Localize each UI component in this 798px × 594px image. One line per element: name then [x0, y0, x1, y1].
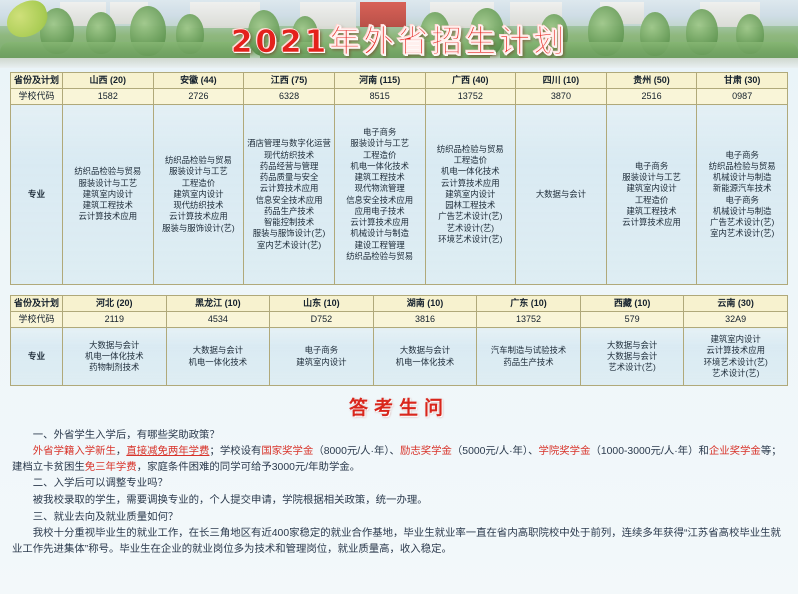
school-code-cell: 0987 [697, 89, 788, 105]
major-item: 服装设计与工艺 [608, 172, 696, 183]
major-list-cell: 纺织品检验与贸易服装设计与工艺建筑室内设计建筑工程技术云计算技术应用 [63, 105, 154, 285]
major-item: 机械设计与制造 [698, 172, 786, 183]
major-list-cell: 纺织品检验与贸易工程造价机电一体化技术云计算技术应用建筑室内设计园林工程技术广告… [425, 105, 516, 285]
major-item: 云计算技术应用 [336, 217, 424, 228]
major-item: 园林工程技术 [427, 200, 515, 211]
major-item: 应用电子技术 [336, 206, 424, 217]
major-list-cell: 纺织品检验与贸易服装设计与工艺工程造价建筑室内设计现代纺织技术云计算技术应用服装… [153, 105, 244, 285]
major-item: 大数据与会计 [517, 189, 605, 200]
qa-answer-1-text: ；学校设有 [209, 446, 261, 457]
major-item: 机电一体化技术 [336, 161, 424, 172]
province-cell: 西藏 (10) [580, 296, 684, 312]
province-cell: 山西 (20) [63, 73, 154, 89]
major-item: 机械设计与制造 [336, 228, 424, 239]
major-item: 工程造价 [608, 195, 696, 206]
province-cell: 广西 (40) [425, 73, 516, 89]
major-list-cell: 电子商务服装设计与工艺工程造价机电一体化技术建筑工程技术现代物流管理信息安全技术… [334, 105, 425, 285]
plan-table-1-wrap: 省份及计划 山西 (20) 安徽 (44) 江西 (75) 河南 (115) 广… [0, 68, 798, 285]
school-code-cell: 13752 [425, 89, 516, 105]
major-list-cell: 酒店管理与数字化运营现代纺织技术药品经营与管理药品质量与安全云计算技术应用信息安… [244, 105, 335, 285]
major-list-cell: 大数据与会计机电一体化技术药物制剂技术 [63, 328, 167, 386]
major-list-cell: 建筑室内设计云计算技术应用环境艺术设计(艺)艺术设计(艺) [684, 328, 788, 386]
province-cell: 江西 (75) [244, 73, 335, 89]
province-cell: 甘肃 (30) [697, 73, 788, 89]
major-item: 酒店管理与数字化运营 [245, 138, 333, 149]
major-item: 云计算技术应用 [245, 183, 333, 194]
major-item: 工程造价 [427, 155, 515, 166]
qa-answer-1-text: （8000元/人·年）、 [313, 446, 400, 457]
province-cell: 广东 (10) [477, 296, 581, 312]
major-item: 电子商务 [698, 150, 786, 161]
qa-heading: 答考生问 [12, 394, 786, 423]
major-item: 机电一体化技术 [64, 351, 165, 362]
major-item: 云计算技术应用 [608, 217, 696, 228]
qa-answer-1-text: （1000-3000元/人·年）和 [590, 446, 708, 457]
plan-table-2-wrap: 省份及计划 河北 (20) 黑龙江 (10) 山东 (10) 湖南 (10) 广… [0, 285, 798, 386]
major-item: 室内艺术设计(艺) [245, 240, 333, 251]
table-row: 专业 纺织品检验与贸易服装设计与工艺建筑室内设计建筑工程技术云计算技术应用 纺织… [11, 105, 788, 285]
table-row: 省份及计划 山西 (20) 安徽 (44) 江西 (75) 河南 (115) 广… [11, 73, 788, 89]
highlight-college-scholarship: 学院奖学金 [539, 446, 591, 457]
school-code-cell: 6328 [244, 89, 335, 105]
major-item: 药品质量与安全 [245, 172, 333, 183]
province-cell: 黑龙江 (10) [166, 296, 270, 312]
table-row: 省份及计划 河北 (20) 黑龙江 (10) 山东 (10) 湖南 (10) 广… [11, 296, 788, 312]
major-item: 新能源汽车技术 [698, 183, 786, 194]
highlight-new-student: 外省学籍入学新生 [33, 446, 116, 457]
major-item: 服装设计与工艺 [64, 178, 152, 189]
major-item: 广告艺术设计(艺) [427, 211, 515, 222]
major-item: 机械设计与制造 [698, 206, 786, 217]
province-cell: 贵州 (50) [606, 73, 697, 89]
major-item: 电子商务 [608, 161, 696, 172]
major-item: 服装设计与工艺 [336, 138, 424, 149]
major-item: 环境艺术设计(艺) [427, 234, 515, 245]
school-code-cell: 3816 [373, 312, 477, 328]
major-item: 云计算技术应用 [155, 211, 243, 222]
qa-answer-1-text: （5000元/人·年）、 [452, 446, 539, 457]
major-item: 建筑室内设计 [608, 183, 696, 194]
major-item: 信息安全技术应用 [336, 195, 424, 206]
major-item: 电子商务 [336, 127, 424, 138]
row-label-school-code: 学校代码 [11, 312, 63, 328]
qa-section: 答考生问 一、外省学生入学后，有哪些奖助政策？ 外省学籍入学新生，直接减免两年学… [0, 386, 798, 557]
major-item: 服装与服饰设计(艺) [245, 228, 333, 239]
major-item: 机电一体化技术 [427, 166, 515, 177]
province-cell: 山东 (10) [270, 296, 374, 312]
major-list-cell: 大数据与会计机电一体化技术 [373, 328, 477, 386]
qa-answer-1-text: ，家庭条件困难的同学可给予3000元/年助学金。 [137, 462, 360, 473]
school-code-cell: D752 [270, 312, 374, 328]
major-item: 工程造价 [336, 150, 424, 161]
school-code-cell: 4534 [166, 312, 270, 328]
major-item: 药品生产技术 [245, 206, 333, 217]
major-item: 纺织品检验与贸易 [64, 166, 152, 177]
major-item: 现代纺织技术 [245, 150, 333, 161]
school-code-cell: 579 [580, 312, 684, 328]
major-item: 艺术设计(艺) [685, 368, 786, 379]
school-code-cell: 2516 [606, 89, 697, 105]
major-item: 大数据与会计 [168, 345, 269, 356]
highlight-lizhi-scholarship: 励志奖学金 [400, 446, 452, 457]
major-item: 汽车制造与试验技术 [478, 345, 579, 356]
school-code-cell: 1582 [63, 89, 154, 105]
major-list-cell: 大数据与会计 [516, 105, 607, 285]
qa-answer-1: 外省学籍入学新生，直接减免两年学费；学校设有国家奖学金（8000元/人·年）、励… [12, 444, 786, 475]
header-banner: 2021年外省招生计划 [0, 0, 798, 68]
major-item: 工程造价 [155, 178, 243, 189]
province-cell: 河南 (115) [334, 73, 425, 89]
major-item: 现代物流管理 [336, 183, 424, 194]
major-item: 现代纺织技术 [155, 200, 243, 211]
major-list-cell: 电子商务建筑室内设计 [270, 328, 374, 386]
major-item: 建筑室内设计 [427, 189, 515, 200]
major-item: 机电一体化技术 [168, 357, 269, 368]
major-item: 云计算技术应用 [64, 211, 152, 222]
plan-table-2: 省份及计划 河北 (20) 黑龙江 (10) 山东 (10) 湖南 (10) 广… [10, 295, 788, 386]
highlight-tuition-waiver: 直接减免两年学费 [126, 446, 209, 457]
major-item: 纺织品检验与贸易 [427, 144, 515, 155]
table-row: 专业 大数据与会计机电一体化技术药物制剂技术 大数据与会计机电一体化技术 电子商… [11, 328, 788, 386]
poster-page: 2021年外省招生计划 省份及计划 山西 (20) 安徽 (44) 江西 (75… [0, 0, 798, 594]
plan-table-1: 省份及计划 山西 (20) 安徽 (44) 江西 (75) 河南 (115) 广… [10, 72, 788, 285]
major-item: 艺术设计(艺) [427, 223, 515, 234]
province-cell: 四川 (10) [516, 73, 607, 89]
major-item: 大数据与会计 [64, 340, 165, 351]
major-item: 环境艺术设计(艺) [685, 357, 786, 368]
major-item: 云计算技术应用 [685, 345, 786, 356]
major-item: 建筑工程技术 [336, 172, 424, 183]
major-list-cell: 电子商务纺织品检验与贸易机械设计与制造新能源汽车技术电子商务机械设计与制造广告艺… [697, 105, 788, 285]
province-cell: 云南 (30) [684, 296, 788, 312]
major-item: 电子商务 [271, 345, 372, 356]
major-item: 纺织品检验与贸易 [336, 251, 424, 262]
qa-question-2: 二、入学后可以调整专业吗？ [12, 476, 786, 492]
major-item: 纺织品检验与贸易 [155, 155, 243, 166]
province-cell: 安徽 (44) [153, 73, 244, 89]
major-item: 药品经营与管理 [245, 161, 333, 172]
table-row: 学校代码 2119 4534 D752 3816 13752 579 32A9 [11, 312, 788, 328]
major-item: 云计算技术应用 [427, 178, 515, 189]
major-item: 广告艺术设计(艺) [698, 217, 786, 228]
major-item: 建筑室内设计 [271, 357, 372, 368]
qa-answer-2: 被我校录取的学生，需要调换专业的，个人提交申请，学院根据相关政策，统一办理。 [12, 493, 786, 509]
province-cell: 湖南 (10) [373, 296, 477, 312]
qa-answer-3: 我校十分重视毕业生的就业工作，在长三角地区有近400家稳定的就业合作基地，毕业生… [12, 526, 786, 557]
qa-question-1: 一、外省学生入学后，有哪些奖助政策？ [12, 428, 786, 444]
major-list-cell: 大数据与会计机电一体化技术 [166, 328, 270, 386]
row-label-major: 专业 [11, 328, 63, 386]
major-item: 建筑室内设计 [64, 189, 152, 200]
highlight-enterprise-scholarship: 企业奖学金 [709, 446, 761, 457]
row-label-province-plan: 省份及计划 [11, 73, 63, 89]
major-item: 服装设计与工艺 [155, 166, 243, 177]
qa-answer-1-text: ， [116, 446, 126, 457]
major-item: 信息安全技术应用 [245, 195, 333, 206]
school-code-cell: 2726 [153, 89, 244, 105]
major-item: 室内艺术设计(艺) [698, 228, 786, 239]
major-item: 药品生产技术 [478, 357, 579, 368]
province-cell: 河北 (20) [63, 296, 167, 312]
major-item: 建筑工程技术 [608, 206, 696, 217]
major-item: 纺织品检验与贸易 [698, 161, 786, 172]
row-label-school-code: 学校代码 [11, 89, 63, 105]
school-code-cell: 8515 [334, 89, 425, 105]
major-item: 建筑室内设计 [155, 189, 243, 200]
major-item: 机电一体化技术 [375, 357, 476, 368]
major-item: 药物制剂技术 [64, 362, 165, 373]
table-row: 学校代码 1582 2726 6328 8515 13752 3870 2516… [11, 89, 788, 105]
school-code-cell: 13752 [477, 312, 581, 328]
major-item: 建筑工程技术 [64, 200, 152, 211]
highlight-national-scholarship: 国家奖学金 [261, 446, 313, 457]
major-item: 大数据与会计 [375, 345, 476, 356]
major-item: 电子商务 [698, 195, 786, 206]
major-item: 大数据与会计 [582, 351, 683, 362]
major-list-cell: 汽车制造与试验技术药品生产技术 [477, 328, 581, 386]
major-item: 智能控制技术 [245, 217, 333, 228]
row-label-province-plan: 省份及计划 [11, 296, 63, 312]
major-item: 大数据与会计 [582, 340, 683, 351]
page-title: 2021年外省招生计划 [0, 16, 798, 61]
major-item: 艺术设计(艺) [582, 362, 683, 373]
major-item: 建筑室内设计 [685, 334, 786, 345]
school-code-cell: 2119 [63, 312, 167, 328]
school-code-cell: 32A9 [684, 312, 788, 328]
major-list-cell: 大数据与会计大数据与会计艺术设计(艺) [580, 328, 684, 386]
highlight-three-year-waiver: 免三年学费 [85, 462, 137, 473]
qa-question-3: 三、就业去向及就业质量如何？ [12, 510, 786, 526]
major-item: 服装与服饰设计(艺) [155, 223, 243, 234]
major-item: 建设工程管理 [336, 240, 424, 251]
row-label-major: 专业 [11, 105, 63, 285]
major-list-cell: 电子商务服装设计与工艺建筑室内设计工程造价建筑工程技术云计算技术应用 [606, 105, 697, 285]
school-code-cell: 3870 [516, 89, 607, 105]
